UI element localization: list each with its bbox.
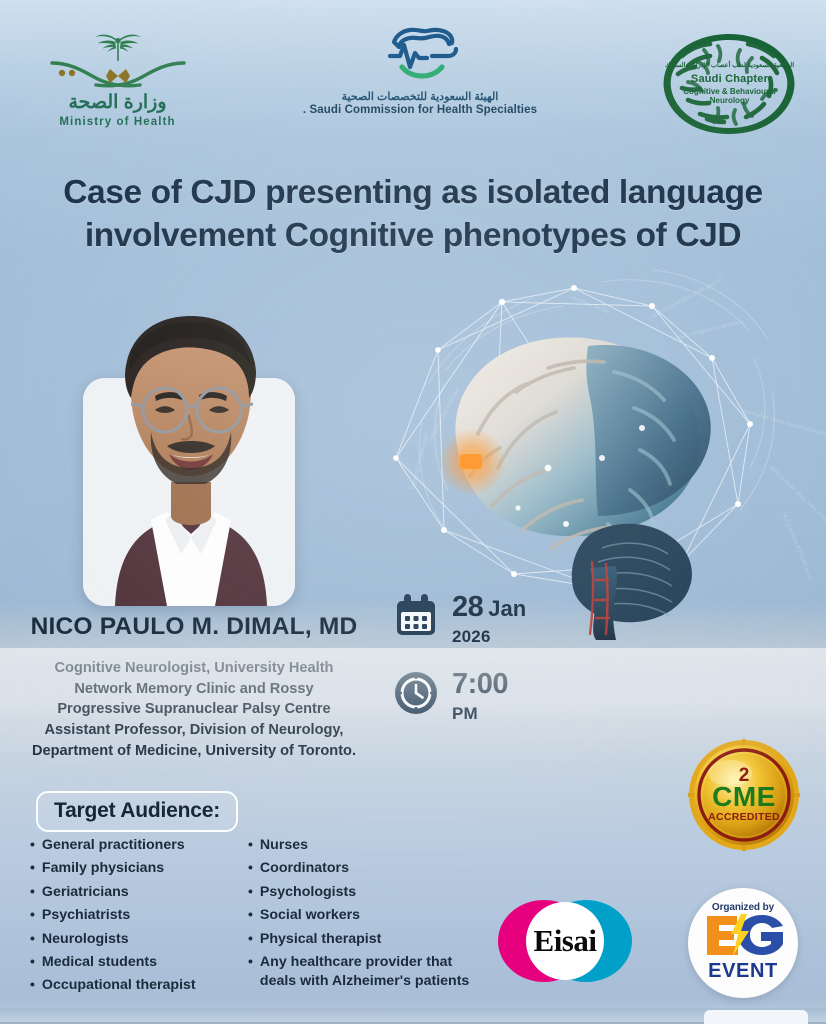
speaker-bio-line-4: Assistant Professor, Division of Neurolo…: [6, 720, 382, 741]
list-item: •Coordinators: [248, 859, 498, 878]
list-item-label-wrapped: Any healthcare provider that deals with …: [260, 953, 469, 991]
bullet-icon: •: [30, 953, 35, 969]
list-item-label: Coordinators: [260, 859, 349, 878]
list-item-label: Geriatricians: [42, 883, 129, 902]
list-item: •Psychologists: [248, 883, 498, 902]
list-item-label: Medical students: [42, 953, 157, 972]
list-item-label: Neurologists: [42, 930, 129, 949]
target-audience-heading: Target Audience:: [36, 791, 238, 832]
title-line-2: involvement Cognitive phenotypes of CJD: [22, 215, 804, 258]
event-month: Jan: [488, 596, 526, 621]
list-item: •Occupational therapist: [30, 976, 248, 995]
eg-letters-icon: [697, 914, 789, 956]
list-item-label: Family physicians: [42, 859, 164, 878]
list-item: •Nurses: [248, 836, 498, 855]
palm-tree-icon: [81, 32, 155, 62]
list-item-label: Physical therapist: [260, 930, 381, 949]
bullet-icon: •: [248, 859, 253, 875]
chapter-arabic-label: الجمعية السعودية لطب أعصاب الإدراك والسل…: [652, 62, 807, 70]
next-poster-peek: [704, 1010, 808, 1024]
target-audience-column-right: •Nurses •Coordinators •Psychologists •So…: [248, 836, 498, 1000]
bullet-icon: •: [30, 906, 35, 922]
speaker-bio-line-3: Progressive Supranuclear Palsy Centre: [6, 699, 382, 720]
list-item-label: Nurses: [260, 836, 308, 855]
schs-english-label: . Saudi Commission for Health Specialtie…: [300, 104, 540, 116]
event-year: 2026: [452, 627, 526, 647]
list-item: •Family physicians: [30, 859, 248, 878]
svg-text:rapidly progressive dementia: rapidly progressive dementia: [673, 318, 745, 342]
event-date-main: 28Jan: [452, 594, 526, 622]
avatar: [55, 306, 323, 616]
bullet-icon: •: [30, 836, 35, 852]
svg-text:14-3-3 protein RT-QuIC assay: 14-3-3 protein RT-QuIC assay: [780, 510, 815, 583]
list-item-label: Psychiatrists: [42, 906, 130, 925]
speaker-name: NICO PAULO M. DIMAL, MD: [0, 613, 388, 641]
chapter-line2: Cognitive & Behavioural: [652, 87, 807, 96]
moh-english-label: Ministry of Health: [30, 116, 205, 128]
svg-text:myoclonus ataxia cortical ribb: myoclonus ataxia cortical ribboning: [741, 407, 826, 438]
svg-text:EEG periodic sharp wave comple: EEG periodic sharp wave complexes: [769, 464, 826, 533]
list-item: •Medical students: [30, 953, 248, 972]
logo-saudi-commission: الهيئة السعودية للتخصصات الصحية . Saudi …: [300, 24, 540, 116]
bullet-icon: •: [248, 836, 253, 852]
saudi-map-pulse-icon: [300, 24, 540, 82]
list-item-label: Any healthcare provider that: [260, 954, 452, 970]
cme-badge: 2 CME ACCREDITED: [688, 739, 800, 851]
event-date-row: 28Jan 2026: [392, 592, 526, 647]
list-item: • Any healthcare provider that deals wit…: [248, 953, 498, 991]
speaker-bio-line-1: Cognitive Neurologist, University Health: [6, 658, 382, 679]
list-item: •General practitioners: [30, 836, 248, 855]
poster-bottom-edge: [0, 1008, 826, 1024]
list-item: •Neurologists: [30, 930, 248, 949]
list-item: •Physical therapist: [248, 930, 498, 949]
eg-monogram: [688, 914, 798, 956]
moh-arabic-label: وزارة الصحة: [30, 93, 205, 114]
eg-event-word: EVENT: [688, 960, 798, 983]
list-item-label: Psychologists: [260, 883, 356, 902]
poster-title: Case of CJD presenting as isolated langu…: [22, 172, 804, 258]
chapter-line3: Neurology: [652, 96, 807, 105]
list-item: •Psychiatrists: [30, 906, 248, 925]
event-time-value: 7:00: [452, 671, 508, 699]
list-item: •Social workers: [248, 906, 498, 925]
logo-saudi-chapter: الجمعية السعودية لطب أعصاب الإدراك والسل…: [652, 28, 807, 140]
target-audience-lists: •General practitioners •Family physician…: [30, 836, 500, 1000]
list-item-label: Social workers: [260, 906, 360, 925]
crossed-swords-icon: [38, 59, 198, 91]
bullet-icon: •: [248, 883, 253, 899]
speaker-bio-line-2: Network Memory Clinic and Rossy: [6, 679, 382, 700]
event-time-meridiem: PM: [452, 704, 508, 724]
logo-eisai: Eisai: [492, 898, 638, 984]
moh-emblem: [30, 32, 205, 92]
chapter-text-block: الجمعية السعودية لطب أعصاب الإدراك والسل…: [652, 62, 807, 106]
brain-illustration: neurodegeneration prion protein rapidly …: [352, 262, 826, 640]
event-datetime: 28Jan 2026 7:00: [392, 592, 526, 746]
event-time-row: 7:00 PM: [392, 669, 526, 724]
logo-eg-event: Organized by EVENT: [688, 888, 798, 998]
event-day: 28: [452, 591, 483, 623]
list-item-label: General practitioners: [42, 836, 185, 855]
calendar-icon: [392, 592, 440, 640]
chapter-line1: Saudi Chapter: [652, 73, 807, 86]
bullet-icon: •: [30, 930, 35, 946]
list-item-label-continued: deals with Alzheimer's patients: [260, 972, 469, 991]
clock-icon: [392, 669, 440, 717]
speaker-photo: [83, 378, 295, 606]
event-poster: وزارة الصحة Ministry of Health الهيئة ال…: [0, 0, 826, 1024]
brain-network-graphic: neurodegeneration prion protein rapidly …: [352, 262, 826, 640]
schs-arabic-label: الهيئة السعودية للتخصصات الصحية: [300, 90, 540, 103]
bullet-icon: •: [30, 859, 35, 875]
bullet-icon: •: [248, 906, 253, 922]
speaker-bio-line-5: Department of Medicine, University of To…: [6, 741, 382, 762]
eisai-mark-icon: [492, 898, 638, 984]
list-item-label: Occupational therapist: [42, 976, 196, 995]
speaker-bio: Cognitive Neurologist, University Health…: [6, 658, 382, 762]
target-audience-column-left: •General practitioners •Family physician…: [30, 836, 248, 1000]
bullet-icon: •: [248, 930, 253, 946]
organized-by-label: Organized by: [688, 902, 798, 913]
logo-ministry-of-health: وزارة الصحة Ministry of Health: [30, 32, 205, 128]
bullet-icon: •: [248, 953, 253, 969]
gold-seal-icon: [688, 739, 800, 851]
bullet-icon: •: [30, 976, 35, 992]
logo-row: وزارة الصحة Ministry of Health الهيئة ال…: [0, 14, 826, 139]
title-line-1: Case of CJD presenting as isolated langu…: [22, 172, 804, 215]
bullet-icon: •: [30, 883, 35, 899]
list-item: •Geriatricians: [30, 883, 248, 902]
